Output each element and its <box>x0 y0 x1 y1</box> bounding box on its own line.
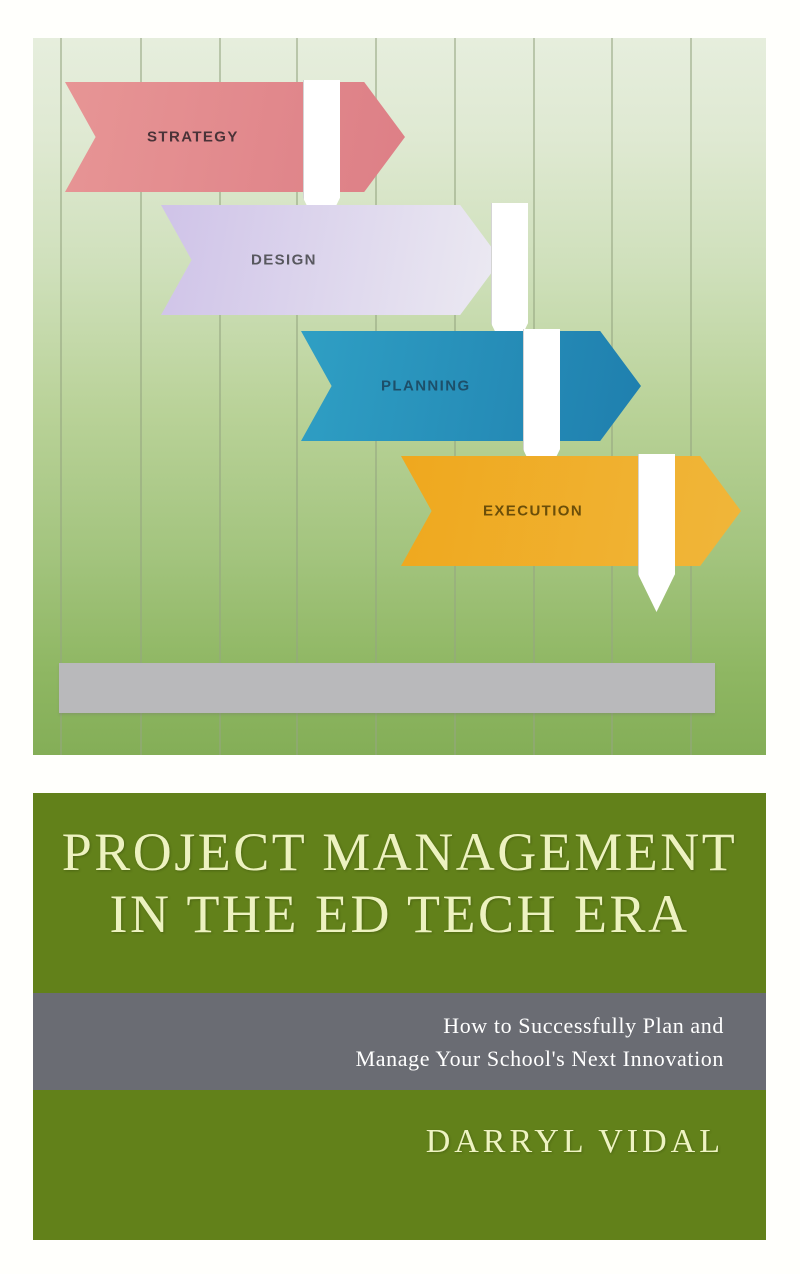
author-block: DARRYL VIDAL <box>33 1123 766 1161</box>
subtitle-band: How to Successfully Plan and Manage Your… <box>33 993 766 1090</box>
gridline-1 <box>60 38 62 755</box>
title-line-1: PROJECT MANAGEMENT <box>33 821 766 883</box>
gridline-9 <box>690 38 692 755</box>
subtitle-line-1: How to Successfully Plan and <box>33 1009 724 1042</box>
stage-label-strategy: STRATEGY <box>147 129 239 146</box>
stage-label-execution: EXECUTION <box>483 503 583 520</box>
title-line-2: IN THE ED TECH ERA <box>33 883 766 945</box>
stage-pointer-execution <box>638 454 675 612</box>
subtitle-line-2: Manage Your School's Next Innovation <box>33 1042 724 1075</box>
stage-chevron-planning: PLANNING <box>301 331 641 441</box>
cover-panel: PROJECT MANAGEMENT IN THE ED TECH ERA Ho… <box>33 793 766 1240</box>
stage-label-planning: PLANNING <box>381 378 471 395</box>
author-name: DARRYL VIDAL <box>33 1123 724 1161</box>
process-diagram-panel: STRATEGYDESIGNPLANNINGEXECUTION <box>33 38 766 755</box>
stage-chevron-design: DESIGN <box>161 205 501 315</box>
stage-chevron-execution: EXECUTION <box>401 456 741 566</box>
stage-label-design: DESIGN <box>251 252 317 269</box>
diagram-bottom-bar <box>59 663 715 713</box>
book-cover-page: STRATEGYDESIGNPLANNINGEXECUTION PROJECT … <box>0 0 800 1274</box>
book-title: PROJECT MANAGEMENT IN THE ED TECH ERA <box>33 821 766 945</box>
stage-chevron-strategy: STRATEGY <box>65 82 405 192</box>
